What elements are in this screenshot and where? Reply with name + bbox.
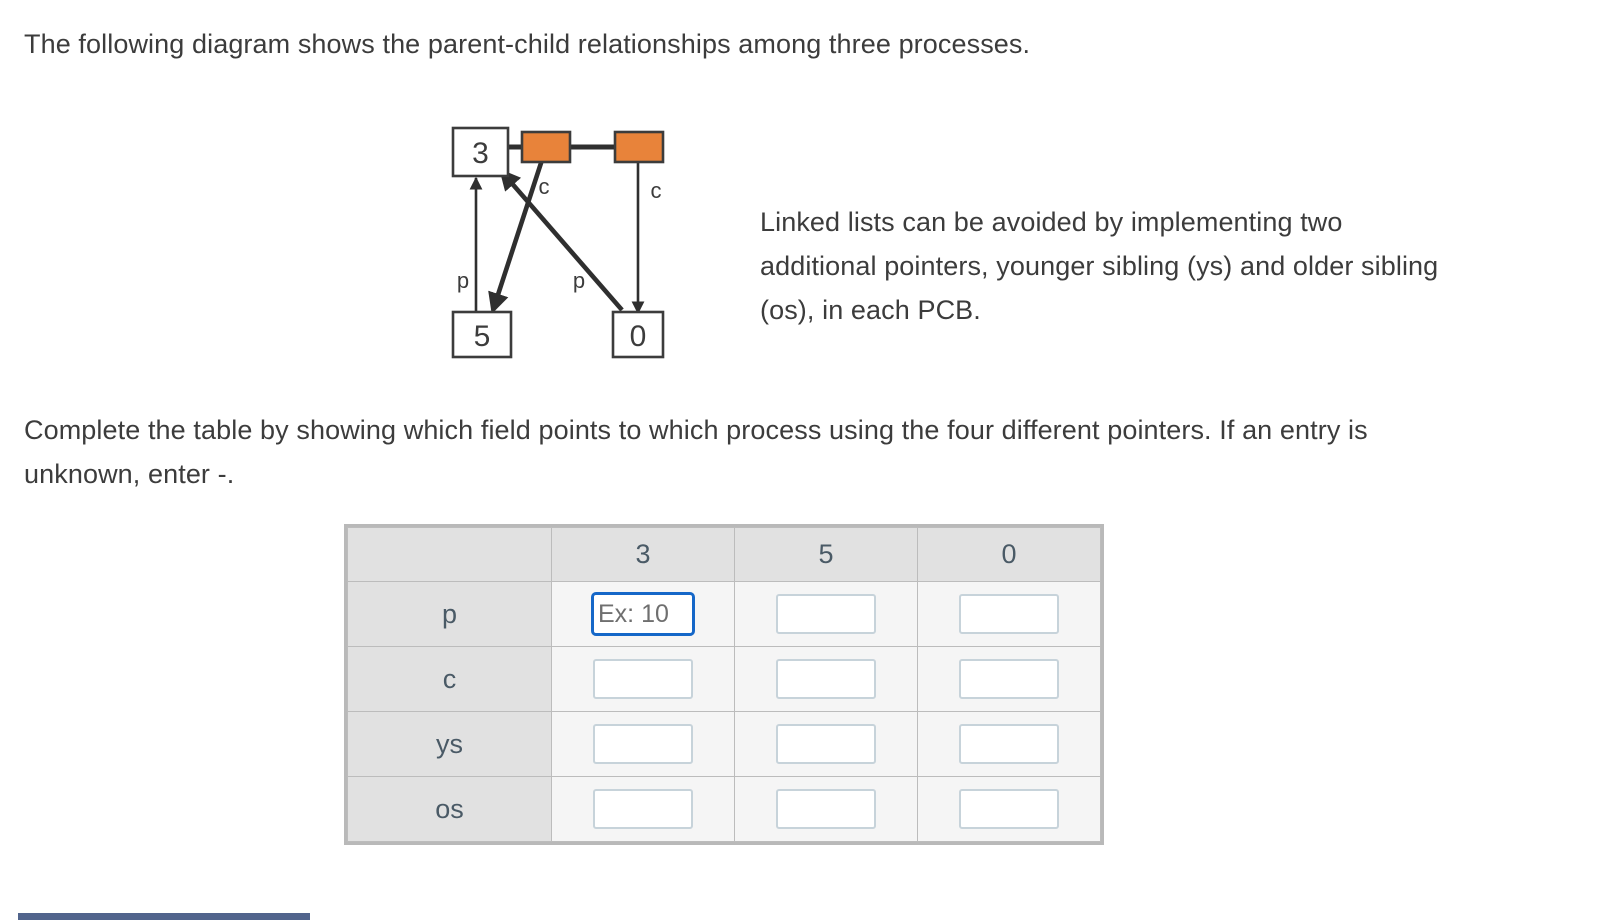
intro-text: The following diagram shows the parent-c… [24,22,1424,66]
arrow-p-0-to-3 [502,172,622,310]
answer-input-os-0[interactable] [959,789,1059,829]
pointer-table-head: 3 5 0 [348,528,1101,582]
list-cell-a [522,132,570,162]
answer-input-c-5[interactable] [776,659,876,699]
cell-ys-0 [918,712,1101,777]
answer-input-ys-3[interactable] [593,724,693,764]
node-0-label: 0 [630,320,647,353]
cell-p-0 [918,582,1101,647]
cell-c-3 [552,647,735,712]
cell-p-5 [735,582,918,647]
node-5-label: 5 [474,320,491,353]
cell-os-3 [552,777,735,842]
edge-label-p-a: p [457,268,469,293]
table-row: os [348,777,1101,842]
edge-label-c-b: c [651,178,662,203]
diagram-svg: 3 5 0 c c p p [440,110,700,370]
cell-p-3 [552,582,735,647]
row-header-p: p [348,582,552,647]
question-page: The following diagram shows the parent-c… [0,0,1604,922]
node-3-label: 3 [472,137,489,170]
column-header-5: 5 [735,528,918,582]
column-header-0: 0 [918,528,1101,582]
pointer-table-container: 3 5 0 p [344,524,1104,845]
edge-label-p-b: p [573,268,585,293]
diagram-node-5: 5 [453,312,511,357]
table-row: p [348,582,1101,647]
edge-label-c-a: c [539,174,550,199]
diagram-node-3: 3 [453,128,508,176]
diagram-node-0: 0 [613,312,663,357]
side-note-text: Linked lists can be avoided by implement… [760,200,1460,332]
row-header-c: c [348,647,552,712]
answer-input-os-3[interactable] [593,789,693,829]
table-header-row: 3 5 0 [348,528,1101,582]
column-header-3: 3 [552,528,735,582]
row-header-os: os [348,777,552,842]
list-cell-b [615,132,663,162]
table-corner-cell [348,528,552,582]
answer-input-p-0[interactable] [959,594,1059,634]
answer-input-p-3[interactable] [591,592,695,636]
instruction-text: Complete the table by showing which fiel… [24,408,1424,496]
answer-input-ys-0[interactable] [959,724,1059,764]
bottom-progress-bar [18,913,310,920]
cell-ys-3 [552,712,735,777]
row-header-ys: ys [348,712,552,777]
cell-c-0 [918,647,1101,712]
answer-input-p-5[interactable] [776,594,876,634]
answer-input-c-0[interactable] [959,659,1059,699]
cell-os-5 [735,777,918,842]
answer-input-ys-5[interactable] [776,724,876,764]
pointer-table: 3 5 0 p [347,527,1101,842]
table-row: ys [348,712,1101,777]
process-relationship-diagram: 3 5 0 c c p p [440,110,700,370]
answer-input-os-5[interactable] [776,789,876,829]
pointer-table-body: p c [348,582,1101,842]
cell-os-0 [918,777,1101,842]
cell-ys-5 [735,712,918,777]
answer-input-c-3[interactable] [593,659,693,699]
cell-c-5 [735,647,918,712]
table-row: c [348,647,1101,712]
arrow-c-3-to-5 [493,160,542,310]
